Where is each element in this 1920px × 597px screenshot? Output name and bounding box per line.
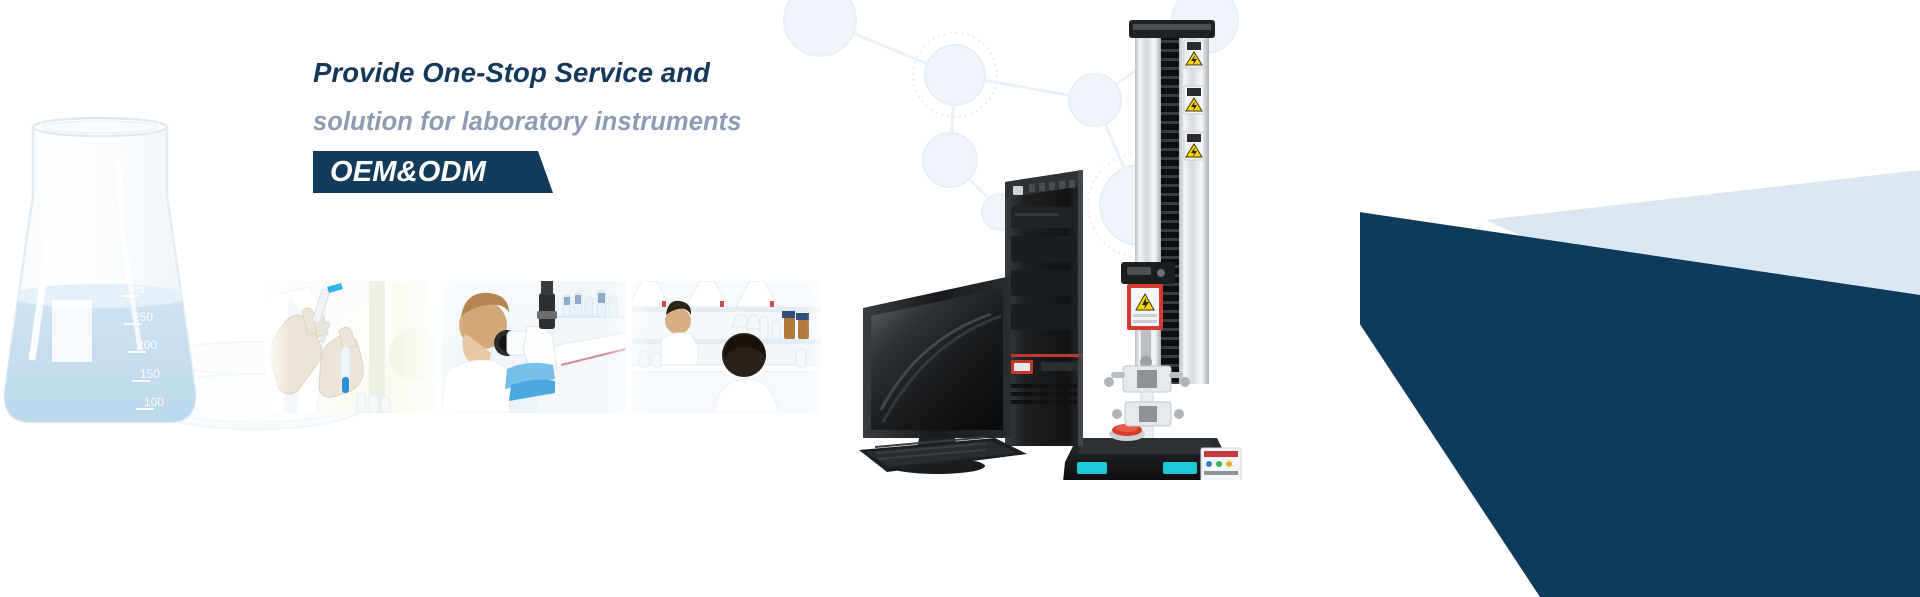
svg-text:ml: ml [132,282,145,296]
control-panel [1201,448,1241,480]
base-accent-right [1163,462,1197,474]
oem-odm-badge: OEM&ODM [313,151,553,193]
hazard-labels [1184,40,1204,160]
svg-text:150: 150 [140,367,160,381]
svg-text:100: 100 [144,395,164,409]
photo-lab-bench [632,281,821,413]
equipment-group [845,10,1315,480]
photo-strip [265,281,821,413]
tensile-testing-machine [1063,20,1241,480]
svg-text:200: 200 [137,338,157,352]
base-accent-left [1077,462,1107,474]
desktop-computer [859,170,1083,474]
photo-microscope [441,281,626,413]
computer-tower [1005,170,1083,446]
photo-pipetting [265,281,435,413]
arrow-dark-shape [1360,200,1920,597]
oem-odm-badge-label: OEM&ODM [330,154,486,190]
flask-liquid [0,296,200,436]
emergency-stop-button [1109,424,1145,441]
arrow-light-shape [1486,170,1920,420]
svg-text:250: 250 [133,310,153,324]
decorative-arrows [1360,0,1920,597]
lower-grip [1112,402,1184,426]
banner-root: ml 250 200 150 100 Provide One-Stop Serv… [0,0,1920,597]
